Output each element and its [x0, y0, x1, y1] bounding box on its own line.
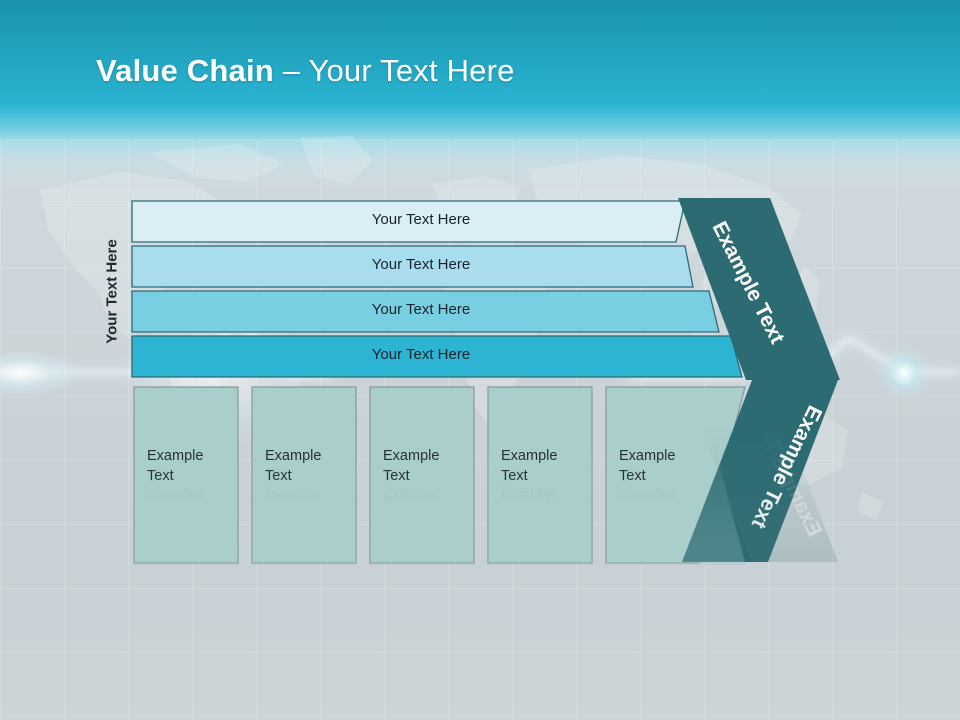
- box-label-5-line1: Example: [619, 446, 675, 466]
- slide-title: Value Chain – Your Text Here: [96, 52, 515, 90]
- box-label-1: Example Text: [147, 446, 203, 486]
- box-label-4-line1: Example: [501, 446, 557, 466]
- bar-label-2: Your Text Here: [291, 256, 551, 273]
- box-label-2: Example Text: [265, 446, 321, 486]
- box-label-3-line2: Text: [383, 466, 439, 486]
- slide-title-rest: – Your Text Here: [274, 53, 515, 88]
- bar-label-1: Your Text Here: [291, 211, 551, 228]
- box-label-4: Example Text: [501, 446, 557, 486]
- box-label-3-line1: Example: [383, 446, 439, 466]
- box-label-1-line1: Example: [147, 446, 203, 466]
- slide-title-strong: Value Chain: [96, 53, 274, 88]
- box-label-5-line2: Text: [619, 466, 675, 486]
- slide-canvas: Value Chain – Your Text Here Your Text H…: [0, 0, 960, 720]
- box-label-1-line2: Text: [147, 466, 203, 486]
- bar-label-4: Your Text Here: [291, 346, 551, 363]
- value-chain-boxes: Example Text Example Text Example Text E…: [133, 386, 773, 564]
- glow-left: [0, 350, 76, 396]
- vertical-axis-label: Your Text Here: [100, 216, 124, 366]
- box-label-3: Example Text: [383, 446, 439, 486]
- arrow-top: Example Text: [660, 192, 860, 392]
- box-label-4-line2: Text: [501, 466, 557, 486]
- box-label-2-line1: Example: [265, 446, 321, 466]
- box-label-2-line2: Text: [265, 466, 321, 486]
- bar-label-3: Your Text Here: [291, 301, 551, 318]
- glow-dot: [877, 346, 931, 400]
- arrow-bottom: Example Text: [680, 378, 865, 573]
- vertical-axis-label-text: Your Text Here: [104, 239, 121, 343]
- box-label-5: Example Text: [619, 446, 675, 486]
- value-chain-bars: Your Text Here Your Text Here Your Text …: [131, 200, 731, 380]
